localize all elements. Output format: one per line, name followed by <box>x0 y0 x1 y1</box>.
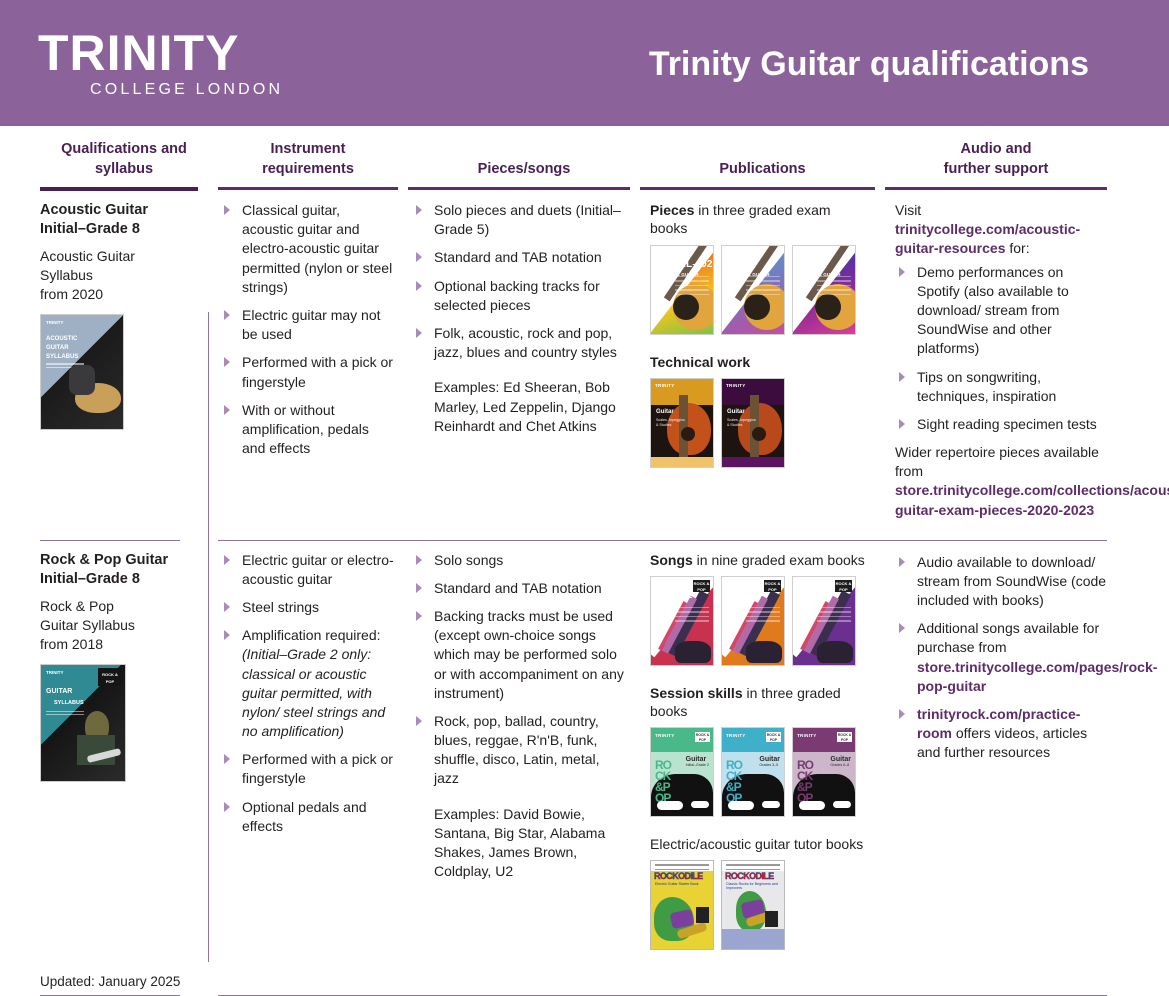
book-cover: TRINITY 03–05 ACOUSTIC GUITAR <box>721 245 785 335</box>
publications-heading-tutor-books: Electric/acoustic guitar tutor books <box>650 835 871 853</box>
acoustic-resources-link[interactable]: trinitycollege.com/acoustic-guitar-resou… <box>895 221 1080 256</box>
column-header-line2: syllabus <box>61 160 187 180</box>
qualifications-table: Qualifications and syllabus Instrument r… <box>0 126 1169 996</box>
column-header-line2: Publications <box>719 160 805 180</box>
qualification-subtitle: Acoustic Guitar Syllabus from 2020 <box>40 247 190 304</box>
qualification-title: Rock & Pop Guitar Initial–Grade 8 <box>40 551 190 589</box>
amplification-label: Amplification required: <box>242 627 381 643</box>
cell-pieces-rockpop: Solo songs Standard and TAB notation Bac… <box>408 541 640 971</box>
column-header-publications: Publications <box>640 126 885 187</box>
rock-pop-badge: ROCK & POP <box>693 580 710 592</box>
cover-subtitle: GUITAR <box>798 603 815 609</box>
cover-title: ACOUSTICGUITARSYLLABUS <box>46 335 78 362</box>
rule-segment <box>640 187 875 190</box>
cell-support-acoustic: Visit trinitycollege.com/acoustic-guitar… <box>885 191 1107 534</box>
book-cover: TRINITY 06–08 ACOUSTIC GUITAR <box>792 245 856 335</box>
table-header-row: Qualifications and syllabus Instrument r… <box>40 126 1129 187</box>
cover-title: ROCKODILE <box>654 871 703 881</box>
rock-pop-store-link[interactable]: store.trinitycollege.com/pages/rock-pop-… <box>917 659 1157 694</box>
cover-brand: TRINITY <box>726 581 746 586</box>
instrument-requirements-list: Electric guitar or electro-acoustic guit… <box>220 551 394 836</box>
heading-rest: in nine graded exam books <box>693 552 865 568</box>
cover-header-lines <box>722 861 784 871</box>
list-item: Standard and TAB notation <box>412 579 626 598</box>
list-item: Performed with a pick or fingerstyle <box>220 353 394 391</box>
list-item: Tips on songwriting, techniques, inspira… <box>895 368 1107 406</box>
logo-subtitle: COLLEGE LONDON <box>90 81 283 99</box>
cover-subtitle: Scales, Arpeggios & Studies <box>656 418 686 429</box>
cell-qualification-acoustic: Acoustic Guitar Initial–Grade 8 Acoustic… <box>40 191 208 534</box>
cover-brand: TRINITY <box>726 383 746 388</box>
heading-bold: Session skills <box>650 685 743 701</box>
rock-pop-badge: ROCK & POP <box>98 668 122 686</box>
cover-title: Guitar <box>727 409 745 415</box>
book-cover: TRINITY ROCK & POP ROCK&POP GuitarGrades… <box>792 727 856 817</box>
book-row-session-skills: TRINITY ROCK & POP ROCK&POP GuitarInitia… <box>650 727 871 817</box>
rock-pop-badge: ROCK & POP <box>835 580 852 592</box>
list-item: Audio available to download/ stream from… <box>895 553 1107 611</box>
page-header: TRINITY COLLEGE LONDON Trinity Guitar qu… <box>0 0 1169 126</box>
list-item: Electric guitar or electro-acoustic guit… <box>220 551 394 589</box>
list-item: Optional pedals and effects <box>220 798 394 836</box>
cover-title: Guitar <box>656 409 674 415</box>
cell-instrument-rockpop: Electric guitar or electro-acoustic guit… <box>208 541 408 971</box>
list-item: Standard and TAB notation <box>412 248 626 267</box>
cover-text-lines <box>746 607 780 625</box>
qualification-subtitle: Rock & Pop Guitar Syllabus from 2018 <box>40 597 190 654</box>
cell-instrument-acoustic: Classical guitar, acoustic guitar and el… <box>208 191 408 534</box>
updated-label: Updated: January 2025 <box>40 970 190 995</box>
cover-grade: 04 <box>727 590 739 601</box>
list-item: Folk, acoustic, rock and pop, jazz, blue… <box>412 324 626 362</box>
list-item: Sight reading specimen tests <box>895 415 1107 434</box>
cover-title: GuitarInitial–Grade 2 <box>686 756 709 767</box>
cover-title: GuitarGrades 6–8 <box>830 756 851 767</box>
book-cover: TRINITY Guitar Scales, Arpeggios & Studi… <box>650 378 714 468</box>
support-list: Audio available to download/ stream from… <box>895 553 1107 763</box>
column-header-pieces: Pieces/songs <box>408 126 640 187</box>
cover-grade: 08 <box>798 590 810 601</box>
column-header-line2: Pieces/songs <box>478 160 571 180</box>
additional-songs-text: Additional songs available for purchase … <box>917 620 1099 655</box>
cover-brand: TRINITY <box>46 670 64 675</box>
heading-bold: Technical work <box>650 354 750 370</box>
book-cover: TRINITY ROCK & POP 08 GUITAR <box>792 576 856 666</box>
heading-bold: Songs <box>650 552 693 568</box>
column-header-line2: requirements <box>262 160 354 180</box>
cover-title: GuitarGrades 3–5 <box>759 756 780 767</box>
cover-grade: INITIAL <box>656 590 692 601</box>
cover-text-lines <box>817 607 851 625</box>
list-item: Demo performances on Spotify (also avail… <box>895 263 1107 359</box>
cover-title: GUITARSYLLABUS <box>46 687 84 708</box>
list-item: Amplification required: (Initial–Grade 2… <box>220 626 394 741</box>
column-header-support: Audio and further support <box>885 126 1107 187</box>
list-item: With or without amplification, pedals an… <box>220 401 394 459</box>
table-row-acoustic-guitar: Acoustic Guitar Initial–Grade 8 Acoustic… <box>40 191 1129 534</box>
qualification-title: Acoustic Guitar Initial–Grade 8 <box>40 201 190 239</box>
publications-heading-technical: Technical work <box>650 353 871 371</box>
pieces-list: Solo pieces and duets (Initial–Grade 5) … <box>412 201 626 362</box>
list-item: Solo pieces and duets (Initial–Grade 5) <box>412 201 626 239</box>
book-row-technical: TRINITY Guitar Scales, Arpeggios & Studi… <box>650 378 871 468</box>
list-item: Steel strings <box>220 598 394 617</box>
instrument-requirements-list: Classical guitar, acoustic guitar and el… <box>220 201 394 458</box>
cover-text-lines <box>675 607 709 625</box>
cover-grade: INITIAL– 02 <box>656 259 713 270</box>
amplifier-artwork <box>765 911 778 927</box>
songs-examples: Examples: David Bowie, Santana, Big Star… <box>412 805 626 882</box>
rock-pop-wordmark: ROCK&POP <box>655 760 671 804</box>
cell-publications-acoustic: Pieces in three graded exam books TRINIT… <box>640 191 885 534</box>
support-intro: Visit trinitycollege.com/acoustic-guitar… <box>895 201 1107 259</box>
logo-wordmark: TRINITY <box>38 28 239 79</box>
cover-title: ROCKODILE <box>725 871 774 881</box>
heading-bold: Pieces <box>650 202 694 218</box>
cover-subtitle: Scales, Arpeggios & Studies <box>727 418 757 429</box>
book-cover: TRINITY INITIAL– 02 ACOUSTIC GUITAR <box>650 245 714 335</box>
cover-text-lines <box>817 276 851 299</box>
cover-brand: TRINITY <box>797 581 817 586</box>
column-header-instrument: Instrument requirements <box>208 126 408 187</box>
rock-pop-badge: ROCK & POP <box>764 580 781 592</box>
book-cover: TRINITY Guitar Scales, Arpeggios & Studi… <box>721 378 785 468</box>
cover-grade: 06–08 <box>798 259 827 270</box>
page-title: Trinity Guitar qualifications <box>649 45 1089 84</box>
list-item: Performed with a pick or fingerstyle <box>220 750 394 788</box>
cover-brand: TRINITY <box>655 383 675 388</box>
syllabus-cover-acoustic: TRINITY ACOUSTICGUITARSYLLABUS <box>40 314 124 430</box>
rule-segment <box>885 187 1107 190</box>
cover-brand: TRINITY <box>655 250 675 255</box>
cover-subtitle: GUITAR <box>727 603 744 609</box>
amplification-note: (Initial–Grade 2 only: classical or acou… <box>242 646 385 739</box>
cover-text-lines <box>675 276 709 299</box>
column-header-line2: further support <box>944 160 1049 180</box>
list-item: trinityrock.com/practice-room offers vid… <box>895 705 1107 763</box>
list-item: Backing tracks must be used (except own-… <box>412 607 626 703</box>
publications-heading-songs: Songs in nine graded exam books <box>650 551 871 569</box>
store-repertoire-link[interactable]: store.trinitycollege.com/collections/aco… <box>895 482 1169 517</box>
footer-row: Updated: January 2025 <box>40 970 1129 995</box>
book-cover: TRINITY ROCK & POP INITIAL GUITAR <box>650 576 714 666</box>
support-intro-post: for: <box>1005 240 1029 256</box>
book-row-songs: TRINITY ROCK & POP INITIAL GUITAR TRINIT… <box>650 576 871 666</box>
column-header-line1: Qualifications and <box>61 140 187 160</box>
publications-heading-pieces: Pieces in three graded exam books <box>650 201 871 237</box>
pieces-examples: Examples: Ed Sheeran, Bob Marley, Led Ze… <box>412 378 626 436</box>
syllabus-cover-rockpop: TRINITY ROCK & POP GUITARSYLLABUS <box>40 664 126 782</box>
cover-grade: 03–05 <box>727 259 756 270</box>
crowd-artwork <box>722 929 784 949</box>
cover-brand: TRINITY <box>726 733 746 738</box>
book-cover: TRINITY ROCK & POP ROCK&POP GuitarGrades… <box>721 727 785 817</box>
cover-brand: TRINITY <box>797 733 817 738</box>
support-note-pre: Wider repertoire pieces available from <box>895 444 1099 479</box>
cell-support-rockpop: Audio available to download/ stream from… <box>885 541 1107 971</box>
column-header-qualifications: Qualifications and syllabus <box>40 126 208 187</box>
support-note: Wider repertoire pieces available from s… <box>895 443 1107 520</box>
cover-brand: TRINITY <box>655 581 675 586</box>
table-row-rock-pop-guitar: Rock & Pop Guitar Initial–Grade 8 Rock &… <box>40 541 1129 971</box>
publications-heading-session-skills: Session skills in three graded books <box>650 684 871 720</box>
book-cover: TRINITY ROCK & POP 04 GUITAR <box>721 576 785 666</box>
list-item: Electric guitar may not be used <box>220 306 394 344</box>
rock-pop-wordmark: ROCK&POP <box>797 760 813 804</box>
rule-segment <box>408 187 630 190</box>
list-item: Additional songs available for purchase … <box>895 619 1107 696</box>
cover-subtitle: Electric Guitar Starter Book <box>655 882 699 886</box>
cover-subtitle: Classic Rocks for Beginners and Improver… <box>726 882 784 890</box>
trinity-logo: TRINITY COLLEGE LONDON <box>38 28 283 99</box>
list-item: Classical guitar, acoustic guitar and el… <box>220 201 394 297</box>
heading-rest: Electric/acoustic guitar tutor books <box>650 836 863 852</box>
list-item: Optional backing tracks for selected pie… <box>412 277 626 315</box>
book-row-pieces: TRINITY INITIAL– 02 ACOUSTIC GUITAR TRIN… <box>650 245 871 335</box>
rock-pop-badge: ROCK & POP <box>695 732 710 742</box>
cell-publications-rockpop: Songs in nine graded exam books TRINITY … <box>640 541 885 971</box>
cover-brand: TRINITY <box>726 250 746 255</box>
support-intro-pre: Visit <box>895 202 921 218</box>
book-cover: ROCKODILE Classic Rocks for Beginners an… <box>721 860 785 950</box>
cover-brand: TRINITY <box>797 250 817 255</box>
list-item: Rock, pop, ballad, country, blues, regga… <box>412 712 626 789</box>
list-item: Solo songs <box>412 551 626 570</box>
book-cover: ROCKODILE Electric Guitar Starter Book <box>650 860 714 950</box>
amplifier-artwork <box>696 907 709 923</box>
rock-pop-badge: ROCK & POP <box>837 732 852 742</box>
cover-brand: TRINITY <box>655 733 675 738</box>
rule-segment <box>218 187 398 190</box>
cell-pieces-acoustic: Solo pieces and duets (Initial–Grade 5) … <box>408 191 640 534</box>
column-header-line1: Instrument <box>262 140 354 160</box>
rock-pop-wordmark: ROCK&POP <box>726 760 742 804</box>
rock-pop-badge: ROCK & POP <box>766 732 781 742</box>
cover-text-lines <box>746 276 780 299</box>
footer-cell: Updated: January 2025 <box>40 970 208 995</box>
cell-qualification-rockpop: Rock & Pop Guitar Initial–Grade 8 Rock &… <box>40 541 208 971</box>
book-row-tutor-books: ROCKODILE Electric Guitar Starter Book R… <box>650 860 871 950</box>
songs-list: Solo songs Standard and TAB notation Bac… <box>412 551 626 789</box>
book-cover: TRINITY ROCK & POP ROCK&POP GuitarInitia… <box>650 727 714 817</box>
cover-brand: TRINITY <box>46 320 64 325</box>
column-header-line1: Audio and <box>944 140 1049 160</box>
support-list: Demo performances on Spotify (also avail… <box>895 263 1107 434</box>
cover-subtitle: GUITAR <box>656 603 673 609</box>
cover-header-lines <box>651 861 713 871</box>
